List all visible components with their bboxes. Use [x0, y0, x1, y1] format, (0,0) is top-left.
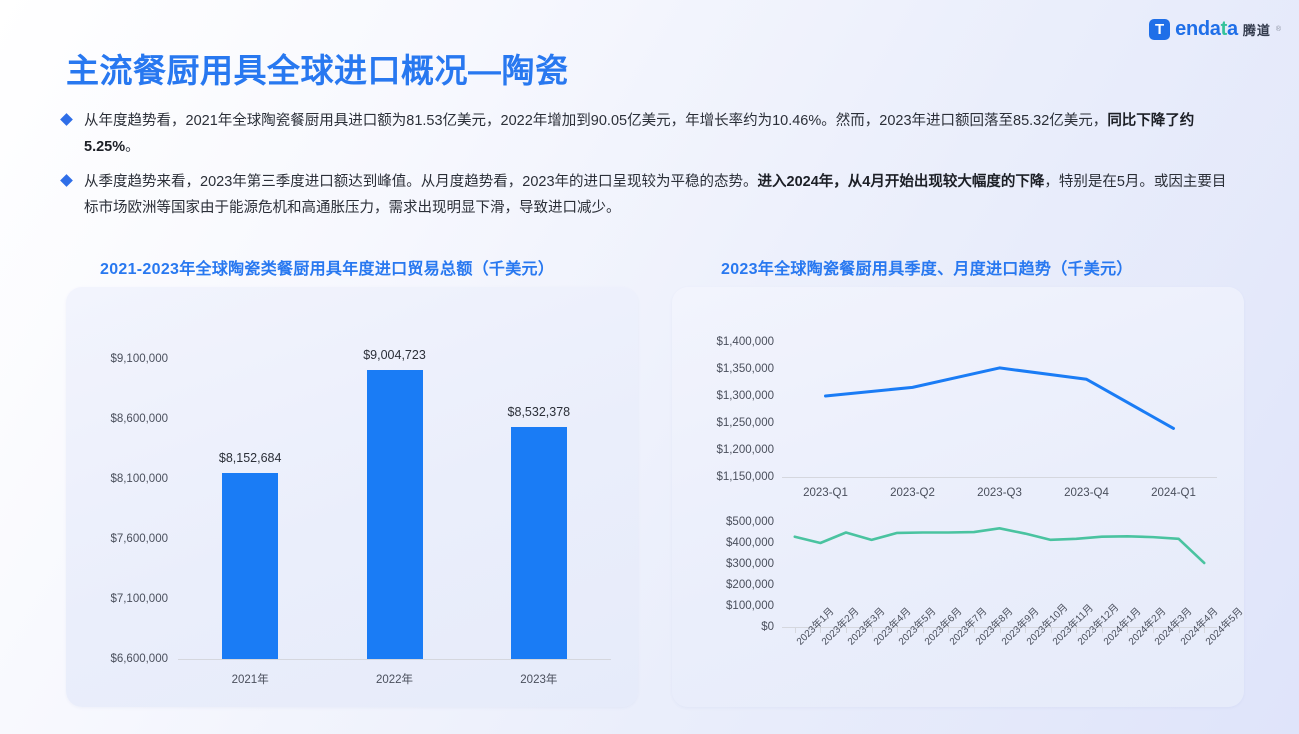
y-axis-tick-label: $7,100,000 — [84, 593, 168, 605]
bullet-text-1: 从年度趋势看，2021年全球陶瓷餐厨用具进口额为81.53亿美元，2022年增加… — [84, 108, 1237, 160]
bullet-list: 从年度趋势看，2021年全球陶瓷餐厨用具进口额为81.53亿美元，2022年增加… — [62, 108, 1237, 230]
x-axis-line — [178, 659, 611, 660]
bar-2022年[interactable] — [367, 370, 423, 659]
y-axis-tick-label: $8,100,000 — [84, 473, 168, 485]
logo-wordmark-cn: 腾道 — [1243, 20, 1271, 39]
diamond-bullet-icon — [60, 174, 73, 187]
y-axis-tick-label: $6,600,000 — [84, 653, 168, 665]
x-axis-tick-label: 2023年 — [520, 671, 557, 687]
y-axis-tick-label: $7,600,000 — [84, 533, 168, 545]
y-axis-tick-label: $8,600,000 — [84, 413, 168, 425]
page-title: 主流餐厨用具全球进口概况—陶瓷 — [66, 44, 569, 92]
annual-import-bar-chart: $6,600,000$7,100,000$7,600,000$8,100,000… — [66, 287, 638, 707]
bar-value-label: $8,152,684 — [219, 451, 282, 465]
diamond-bullet-icon — [60, 113, 73, 126]
slide-page: T endata 腾道 ® 主流餐厨用具全球进口概况—陶瓷 从年度趋势看，202… — [0, 0, 1299, 734]
bar-value-label: $8,532,378 — [508, 405, 571, 419]
bar-2021年[interactable] — [222, 473, 278, 659]
list-item: 从季度趋势来看，2023年第三季度进口额达到峰值。从月度趋势看，2023年的进口… — [62, 169, 1237, 221]
y-axis-tick-label: $9,100,000 — [84, 353, 168, 365]
logo-badge-icon: T — [1149, 19, 1170, 40]
x-axis-tick-label: 2021年 — [232, 671, 269, 687]
right-chart-title: 2023年全球陶瓷餐厨用具季度、月度进口趋势（千美元） — [721, 255, 1133, 279]
monthly-import-line-chart: $0$100,000$200,000$300,000$400,000$500,0… — [672, 287, 1244, 707]
trademark-icon: ® — [1276, 26, 1281, 33]
bar-chart-card: $6,600,000$7,100,000$7,600,000$8,100,000… — [66, 287, 638, 707]
bullet-text-2: 从季度趋势来看，2023年第三季度进口额达到峰值。从月度趋势看，2023年的进口… — [84, 169, 1237, 221]
bar-2023年[interactable] — [511, 427, 567, 659]
logo-word-en: endata — [1175, 18, 1238, 40]
bar-value-label: $9,004,723 — [363, 348, 426, 362]
x-axis-tick-label: 2022年 — [376, 671, 413, 687]
left-chart-title: 2021-2023年全球陶瓷类餐厨用具年度进口贸易总额（千美元） — [100, 255, 554, 279]
logo-wordmark: endata — [1175, 18, 1238, 41]
tendata-logo: T endata 腾道 ® — [1149, 18, 1281, 41]
line-charts-card: $1,150,000$1,200,000$1,250,000$1,300,000… — [672, 287, 1244, 707]
list-item: 从年度趋势看，2021年全球陶瓷餐厨用具进口额为81.53亿美元，2022年增加… — [62, 108, 1237, 160]
